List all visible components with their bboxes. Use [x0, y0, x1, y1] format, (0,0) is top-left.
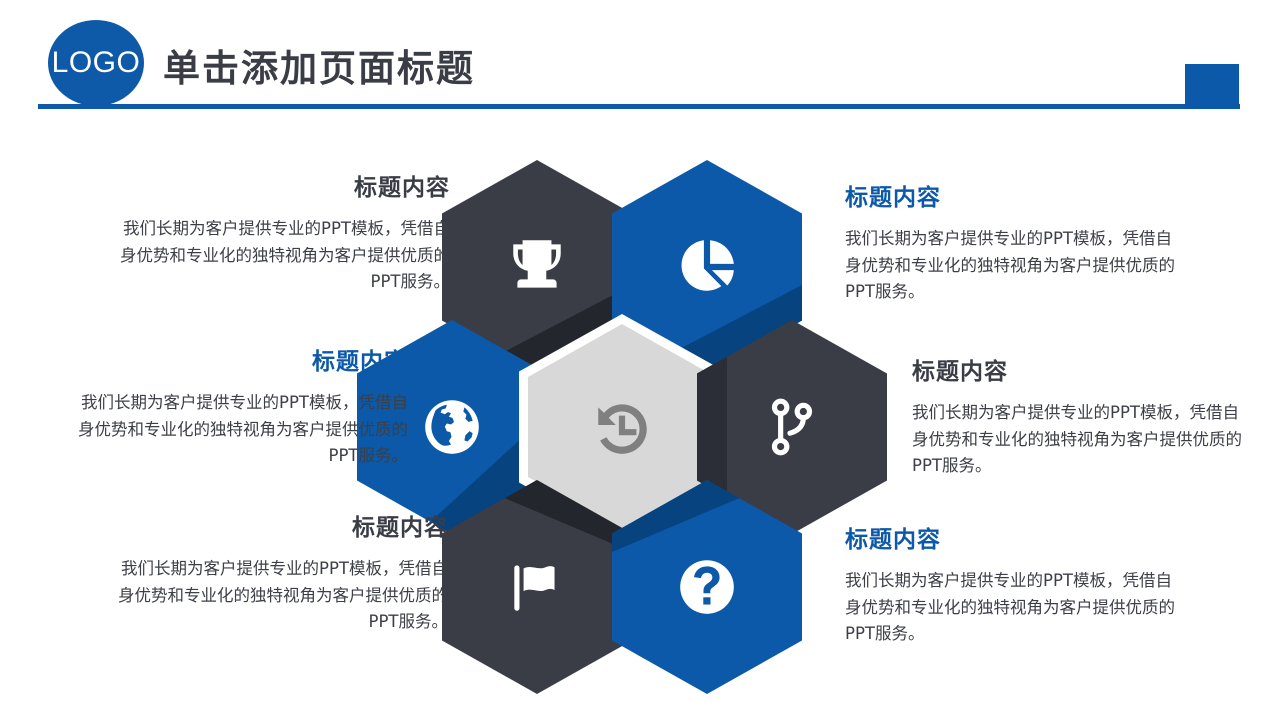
content-body-4[interactable]: 我们长期为客户提供专业的PPT模板，凭借自身优势和专业化的独特视角为客户提供优质… [912, 400, 1242, 480]
hexagon-question[interactable] [612, 480, 802, 694]
header-accent-square [1185, 64, 1239, 109]
content-block-5: 标题内容 我们长期为客户提供专业的PPT模板，凭借自身优势和专业化的独特视角为客… [845, 520, 1175, 648]
content-title-2[interactable]: 标题内容 [118, 508, 448, 542]
logo-circle-icon[interactable]: LOGO [48, 20, 144, 106]
content-body-5[interactable]: 我们长期为客户提供专业的PPT模板，凭借自身优势和专业化的独特视角为客户提供优质… [845, 568, 1175, 648]
question-mark-icon [612, 480, 802, 694]
content-block-0: 标题内容 我们长期为客户提供专业的PPT模板，凭借自身优势和专业化的独特视角为客… [120, 168, 450, 296]
content-body-1[interactable]: 我们长期为客户提供专业的PPT模板，凭借自身优势和专业化的独特视角为客户提供优质… [78, 390, 408, 470]
content-block-3: 标题内容 我们长期为客户提供专业的PPT模板，凭借自身优势和专业化的独特视角为客… [845, 178, 1175, 306]
content-title-4[interactable]: 标题内容 [912, 352, 1242, 386]
content-body-3[interactable]: 我们长期为客户提供专业的PPT模板，凭借自身优势和专业化的独特视角为客户提供优质… [845, 226, 1175, 306]
header-divider [38, 104, 1240, 109]
slide-header: LOGO 单击添加页面标题 [0, 0, 1280, 120]
content-title-5[interactable]: 标题内容 [845, 520, 1175, 554]
content-title-3[interactable]: 标题内容 [845, 178, 1175, 212]
logo-label: LOGO [52, 46, 141, 80]
content-block-2: 标题内容 我们长期为客户提供专业的PPT模板，凭借自身优势和专业化的独特视角为客… [118, 508, 448, 636]
hexagon-flag[interactable] [442, 480, 632, 694]
content-block-4: 标题内容 我们长期为客户提供专业的PPT模板，凭借自身优势和专业化的独特视角为客… [912, 352, 1242, 480]
content-title-0[interactable]: 标题内容 [120, 168, 450, 202]
content-body-0[interactable]: 我们长期为客户提供专业的PPT模板，凭借自身优势和专业化的独特视角为客户提供优质… [120, 216, 450, 296]
hexagon-cluster [384, 160, 884, 670]
flag-icon [442, 480, 632, 694]
content-body-2[interactable]: 我们长期为客户提供专业的PPT模板，凭借自身优势和专业化的独特视角为客户提供优质… [118, 556, 448, 636]
page-title[interactable]: 单击添加页面标题 [163, 38, 475, 92]
content-title-1[interactable]: 标题内容 [78, 342, 408, 376]
content-block-1: 标题内容 我们长期为客户提供专业的PPT模板，凭借自身优势和专业化的独特视角为客… [78, 342, 408, 470]
